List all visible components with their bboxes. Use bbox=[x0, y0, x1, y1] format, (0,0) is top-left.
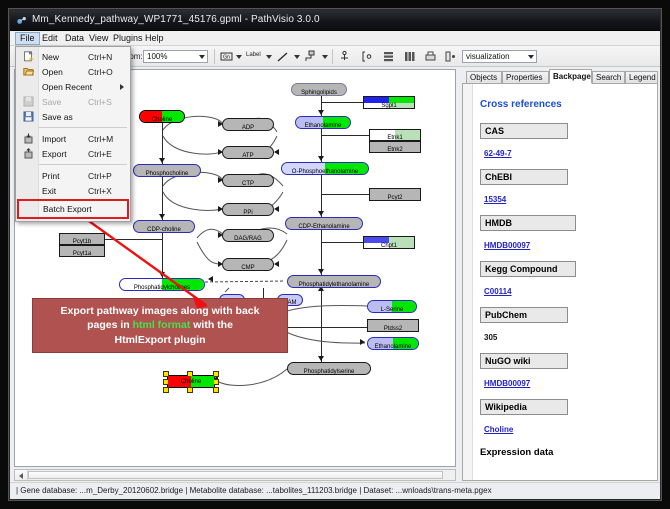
edge-pcyt1-link bbox=[105, 239, 163, 240]
node-chpt1[interactable]: Chpt1 bbox=[363, 236, 415, 249]
edge-chpt1-link bbox=[321, 242, 363, 243]
xref-value-cas[interactable]: 62-49-7 bbox=[484, 149, 512, 158]
stack-icon[interactable] bbox=[403, 50, 416, 63]
zoom-value: 100% bbox=[147, 52, 167, 61]
node-ethanolamine-2[interactable]: Ethanolamine bbox=[367, 337, 419, 350]
node-label: Chpt1 bbox=[381, 243, 397, 249]
node-o-phosphoethanolamine[interactable]: O-Phosphoethanolamine bbox=[281, 162, 369, 175]
menu-data[interactable]: Data bbox=[61, 32, 88, 45]
chevron-down-icon-2 bbox=[528, 55, 534, 59]
group-icon[interactable] bbox=[360, 50, 373, 63]
hscroll-thumb[interactable] bbox=[28, 471, 443, 479]
align-icon[interactable] bbox=[382, 50, 395, 63]
toolbar-separator-2 bbox=[332, 49, 333, 64]
menu-item-label: Open bbox=[42, 67, 63, 77]
node-label: Choline bbox=[168, 379, 214, 385]
node-cmp[interactable]: CMP bbox=[222, 258, 274, 271]
side-panel-tabs: Objects Properties Backpage Search Legen… bbox=[462, 69, 658, 84]
status-text: | Gene database: ...m_Derby_20120602.bri… bbox=[16, 486, 492, 495]
node-label: ATP bbox=[242, 153, 253, 159]
menu-item-label: Save as bbox=[42, 112, 73, 122]
annotation-line2-b: with the bbox=[190, 319, 233, 331]
cross-references-heading: Cross references bbox=[480, 99, 650, 110]
menu-item-label: Exit bbox=[42, 186, 56, 196]
node-phosphatidylserine[interactable]: Phosphatidylserine bbox=[287, 362, 371, 375]
line-dropdown-icon[interactable] bbox=[294, 55, 300, 59]
menu-item-new[interactable]: New Ctrl+N bbox=[16, 49, 130, 64]
node-pcyt2[interactable]: Pcyt2 bbox=[369, 188, 421, 201]
resize-handle-sw[interactable] bbox=[163, 387, 169, 393]
toolbar-separator bbox=[214, 49, 215, 64]
xref-source-nugo: NuGO wiki bbox=[480, 353, 568, 369]
application-window: Mm_Kennedy_pathway_WP1771_45176.gpml - P… bbox=[9, 9, 661, 500]
status-bar: | Gene database: ...m_Derby_20120602.bri… bbox=[10, 482, 660, 499]
menu-item-accel: Ctrl+X bbox=[88, 186, 112, 196]
menu-item-save-as[interactable]: Save as bbox=[16, 109, 130, 124]
menu-item-save: Save Ctrl+S bbox=[16, 94, 130, 109]
node-ppi[interactable]: PPi bbox=[222, 203, 274, 216]
node-etnk2[interactable]: Etnk2 bbox=[369, 141, 421, 153]
import-icon bbox=[23, 133, 34, 144]
xref-source-hmdb: HMDB bbox=[480, 215, 576, 231]
xref-value-nugo[interactable]: HMDB00097 bbox=[484, 379, 530, 388]
xref-source-cas: CAS bbox=[480, 123, 568, 139]
node-label: CDP-choline bbox=[147, 227, 181, 233]
node-label: ADP bbox=[242, 125, 254, 131]
annotation-line3: HtmlExport plugin bbox=[115, 334, 206, 346]
visualization-value: visualization bbox=[466, 52, 510, 61]
menu-item-accel: Ctrl+O bbox=[88, 67, 113, 77]
node-label: Sphingolipids bbox=[301, 90, 337, 96]
resize-handle-se[interactable] bbox=[213, 387, 219, 393]
datanode-dropdown-icon[interactable] bbox=[236, 55, 242, 59]
arrowhead-left-3 bbox=[274, 261, 279, 267]
menu-item-label: Export bbox=[42, 149, 67, 159]
svg-text:Gn: Gn bbox=[223, 55, 230, 61]
menu-item-accel: Ctrl+E bbox=[88, 149, 112, 159]
menu-item-accel: Ctrl+P bbox=[88, 171, 112, 181]
node-label: Phosphocholine bbox=[146, 171, 189, 177]
submenu-arrow-icon bbox=[120, 84, 124, 90]
label-tool-label[interactable]: Label bbox=[246, 52, 261, 58]
tab-backpage[interactable]: Backpage bbox=[549, 69, 592, 84]
node-atp[interactable]: ATP bbox=[222, 146, 274, 159]
xref-source-kegg: Kegg Compound bbox=[480, 261, 576, 277]
xref-value-wikipedia[interactable]: Choline bbox=[484, 425, 513, 434]
node-label: Etnk2 bbox=[387, 147, 402, 153]
menu-item-export[interactable]: Export Ctrl+E bbox=[16, 146, 130, 161]
node-label: CDP-Ethanolamine bbox=[298, 224, 349, 230]
node-label: Choline bbox=[152, 117, 172, 123]
menu-item-label: Open Recent bbox=[42, 82, 92, 92]
zoom-combo[interactable]: 100% bbox=[143, 50, 208, 63]
node-phosphatidylethanolamine[interactable]: Phosphatidylethanolamine bbox=[287, 275, 381, 288]
menu-item-print[interactable]: Print Ctrl+P bbox=[16, 168, 130, 183]
node-dag-dag[interactable]: DAG/RAG bbox=[222, 229, 274, 242]
node-choline-top[interactable]: Choline bbox=[139, 110, 185, 123]
node-phosphocholine[interactable]: Phosphocholine bbox=[133, 164, 201, 177]
menu-file[interactable]: File bbox=[15, 32, 40, 45]
edge-sgpl1-link bbox=[321, 102, 363, 103]
menu-item-label: Import bbox=[42, 134, 66, 144]
new-document-icon bbox=[23, 51, 34, 62]
node-ethanolamine-1[interactable]: Ethanolamine bbox=[295, 116, 351, 129]
node-label: Ethanolamine bbox=[305, 123, 342, 129]
node-sphingolipids[interactable]: Sphingolipids bbox=[291, 83, 347, 96]
menu-bar: File Edit Data View Plugins Help bbox=[10, 31, 660, 46]
node-choline-selected[interactable]: Choline bbox=[167, 375, 215, 388]
arrowhead-left-4 bbox=[208, 276, 213, 282]
menu-help[interactable]: Help bbox=[141, 32, 168, 45]
annotation-line1: Export pathway images along with back bbox=[61, 305, 260, 317]
xref-value-hmdb[interactable]: HMDB00097 bbox=[484, 241, 530, 250]
edge-etnk-link bbox=[321, 135, 369, 136]
menu-item-label: Batch Export bbox=[43, 204, 92, 214]
menu-item-label: Print bbox=[42, 171, 59, 181]
anchor-icon[interactable] bbox=[338, 50, 351, 63]
xref-value-pubchem: 305 bbox=[484, 333, 497, 342]
menu-item-open[interactable]: Open Ctrl+O bbox=[16, 64, 130, 79]
node-label: Pcyt1a bbox=[73, 251, 91, 257]
node-pcyt1b[interactable]: Pcyt1b bbox=[59, 233, 105, 245]
xref-value-chebi[interactable]: 15354 bbox=[484, 195, 506, 204]
node-label: Sgpl1 bbox=[381, 103, 396, 109]
xref-source-chebi: ChEBI bbox=[480, 169, 568, 185]
interaction-dropdown-icon[interactable] bbox=[322, 55, 328, 59]
node-label: Phosphatidylethanolamine bbox=[299, 282, 369, 288]
node-etnk1[interactable]: Etnk1 bbox=[369, 129, 421, 141]
node-label: Phosphatidylserine bbox=[304, 369, 355, 375]
annotation-callout: Export pathway images along with back pa… bbox=[32, 298, 288, 353]
interaction-icon[interactable] bbox=[304, 50, 317, 63]
menu-item-import[interactable]: Import Ctrl+M bbox=[16, 131, 130, 146]
menu-edit[interactable]: Edit bbox=[38, 32, 62, 45]
arrowhead-left-1 bbox=[274, 149, 279, 155]
menu-item-label: New bbox=[42, 52, 59, 62]
xref-source-wikipedia: Wikipedia bbox=[480, 399, 568, 415]
print-icon[interactable] bbox=[424, 50, 437, 63]
visualization-combo[interactable]: visualization bbox=[462, 50, 537, 63]
export-icon bbox=[23, 148, 34, 159]
xref-value-kegg[interactable]: C00114 bbox=[484, 287, 512, 296]
window-title: Mm_Kennedy_pathway_WP1771_45176.gpml - P… bbox=[32, 14, 320, 25]
node-cdp-choline[interactable]: CDP-choline bbox=[133, 220, 195, 233]
edge-pcyt2-link bbox=[321, 194, 369, 195]
save-as-icon bbox=[23, 111, 34, 122]
title-bar: Mm_Kennedy_pathway_WP1771_45176.gpml - P… bbox=[10, 10, 660, 31]
folder-open-icon bbox=[23, 66, 34, 77]
line-icon[interactable] bbox=[276, 50, 289, 63]
menu-item-accel: Ctrl+N bbox=[88, 52, 112, 62]
node-label: CTP bbox=[242, 181, 254, 187]
backpage-vscrollbar[interactable] bbox=[463, 84, 473, 480]
node-ptdss2[interactable]: Ptdss2 bbox=[367, 319, 419, 332]
arrowhead-left-2 bbox=[274, 206, 279, 212]
node-label: O-Phosphoethanolamine bbox=[292, 169, 358, 175]
scroll-left-icon[interactable] bbox=[15, 470, 28, 480]
node-pcyt1a[interactable]: Pcyt1a bbox=[59, 245, 105, 257]
node-label: L-Serine bbox=[381, 307, 404, 313]
properties-icon[interactable] bbox=[444, 50, 457, 63]
node-sgpl1[interactable]: Sgpl1 bbox=[363, 96, 415, 109]
node-phosphatidylcholines[interactable]: Phosphatidylcholines bbox=[119, 278, 205, 291]
selection-group-choline[interactable]: Choline bbox=[163, 371, 219, 392]
screenshot-root: Mm_Kennedy_pathway_WP1771_45176.gpml - P… bbox=[0, 0, 670, 509]
node-ctp[interactable]: CTP bbox=[222, 174, 274, 187]
node-cdp-ethanolamine[interactable]: CDP-Ethanolamine bbox=[285, 217, 363, 230]
node-label: CMP bbox=[241, 265, 254, 271]
node-label: PPi bbox=[243, 210, 252, 216]
label-dropdown-icon[interactable] bbox=[266, 55, 272, 59]
datanode-icon[interactable]: Gn bbox=[220, 50, 233, 63]
menu-item-exit[interactable]: Exit Ctrl+X bbox=[16, 183, 130, 198]
menu-item-batch-export[interactable]: Batch Export bbox=[17, 199, 129, 219]
menu-item-label: Save bbox=[42, 97, 61, 107]
backpage-content: Cross references CAS 62-49-7 ChEBI 15354… bbox=[473, 84, 657, 480]
menu-item-accel: Ctrl+S bbox=[88, 97, 112, 107]
xref-source-pubchem: PubChem bbox=[480, 307, 568, 323]
node-label: Phosphatidylcholines bbox=[134, 285, 190, 291]
expression-data-heading: Expression data bbox=[480, 447, 650, 458]
node-adp[interactable]: ADP bbox=[222, 118, 274, 131]
resize-handle-s[interactable] bbox=[187, 387, 193, 393]
menu-item-open-recent[interactable]: Open Recent bbox=[16, 79, 130, 94]
canvas-hscrollbar[interactable] bbox=[14, 469, 456, 481]
node-l-serine[interactable]: L-Serine bbox=[367, 300, 417, 313]
file-menu-dropdown[interactable]: New Ctrl+N Open Ctrl+O Open Recent bbox=[15, 46, 131, 222]
annotation-line2-highlight: html format bbox=[133, 319, 191, 331]
side-panel: Objects Properties Backpage Search Legen… bbox=[462, 69, 658, 481]
arrowhead-right-7 bbox=[360, 339, 365, 345]
node-label: Ethanolamine bbox=[375, 344, 412, 350]
backpage-panel: Cross references CAS 62-49-7 ChEBI 15354… bbox=[462, 83, 658, 481]
chevron-down-icon bbox=[199, 55, 205, 59]
save-icon bbox=[23, 96, 34, 107]
node-label: Pcyt2 bbox=[387, 195, 402, 201]
menu-item-accel: Ctrl+M bbox=[88, 134, 113, 144]
node-label: Ptdss2 bbox=[384, 326, 402, 332]
node-label: DAG/RAG bbox=[234, 236, 262, 242]
annotation-line2-a: pages in bbox=[87, 319, 133, 331]
pathvisio-icon bbox=[16, 15, 27, 26]
